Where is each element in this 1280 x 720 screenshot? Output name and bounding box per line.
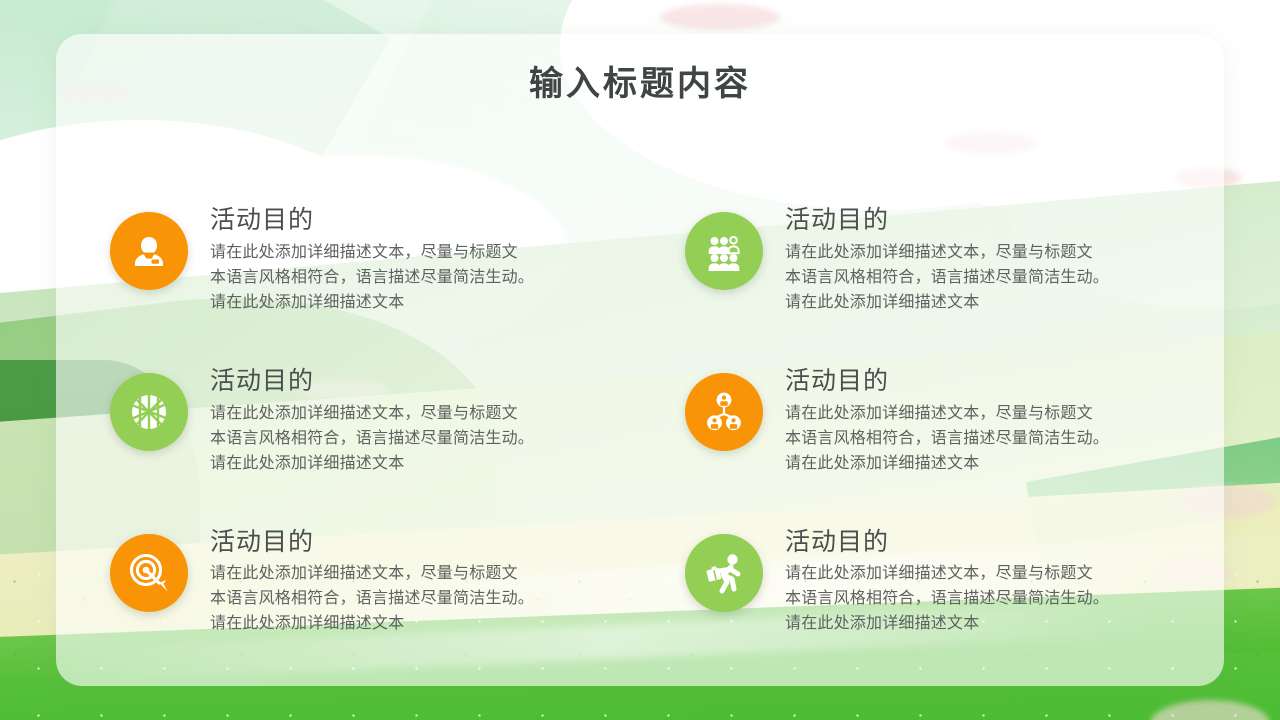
- feature-item-title: 活动目的: [210, 206, 534, 235]
- feature-item-title: 活动目的: [210, 367, 534, 396]
- feature-item-desc: 请在此处添加详细描述文本，尽量与标题文 本语言风格相符合，语言描述尽量简洁生动。…: [785, 561, 1109, 636]
- feature-item-6[interactable]: 活动目的 请在此处添加详细描述文本，尽量与标题文 本语言风格相符合，语言描述尽量…: [685, 528, 1150, 637]
- page-title: 输入标题内容: [0, 56, 1280, 105]
- globe-network-icon[interactable]: [110, 373, 188, 451]
- target-arrow-icon[interactable]: [110, 534, 188, 612]
- feature-item-body: 活动目的 请在此处添加详细描述文本，尽量与标题文 本语言风格相符合，语言描述尽量…: [210, 367, 534, 476]
- feature-item-5[interactable]: 活动目的 请在此处添加详细描述文本，尽量与标题文 本语言风格相符合，语言描述尽量…: [110, 528, 575, 637]
- feature-grid: 活动目的 请在此处添加详细描述文本，尽量与标题文 本语言风格相符合，语言描述尽量…: [110, 206, 1180, 636]
- feature-item-title: 活动目的: [785, 367, 1109, 396]
- feature-item-1[interactable]: 活动目的 请在此处添加详细描述文本，尽量与标题文 本语言风格相符合，语言描述尽量…: [110, 206, 575, 315]
- blossom-petal: [1150, 700, 1270, 720]
- feature-item-2[interactable]: 活动目的 请在此处添加详细描述文本，尽量与标题文 本语言风格相符合，语言描述尽量…: [685, 206, 1150, 315]
- feature-item-4[interactable]: 活动目的 请在此处添加详细描述文本，尽量与标题文 本语言风格相符合，语言描述尽量…: [685, 367, 1150, 476]
- feature-item-body: 活动目的 请在此处添加详细描述文本，尽量与标题文 本语言风格相符合，语言描述尽量…: [785, 528, 1109, 637]
- feature-item-3[interactable]: 活动目的 请在此处添加详细描述文本，尽量与标题文 本语言风格相符合，语言描述尽量…: [110, 367, 575, 476]
- feature-item-desc: 请在此处添加详细描述文本，尽量与标题文 本语言风格相符合，语言描述尽量简洁生动。…: [210, 240, 534, 315]
- feature-item-title: 活动目的: [785, 206, 1109, 235]
- feature-item-body: 活动目的 请在此处添加详细描述文本，尽量与标题文 本语言风格相符合，语言描述尽量…: [210, 206, 534, 315]
- feature-item-body: 活动目的 请在此处添加详细描述文本，尽量与标题文 本语言风格相符合，语言描述尽量…: [785, 367, 1109, 476]
- blossom-petal: [660, 4, 780, 30]
- feature-item-body: 活动目的 请在此处添加详细描述文本，尽量与标题文 本语言风格相符合，语言描述尽量…: [785, 206, 1109, 315]
- feature-item-desc: 请在此处添加详细描述文本，尽量与标题文 本语言风格相符合，语言描述尽量简洁生动。…: [210, 401, 534, 476]
- running-businessman-icon[interactable]: [685, 534, 763, 612]
- people-group-icon[interactable]: [685, 212, 763, 290]
- slide-root: 输入标题内容 活动目的 请在此处添加详细描述文本，尽量与标题文 本语言风格相符合…: [0, 0, 1280, 720]
- feature-item-desc: 请在此处添加详细描述文本，尽量与标题文 本语言风格相符合，语言描述尽量简洁生动。…: [210, 561, 534, 636]
- feature-item-body: 活动目的 请在此处添加详细描述文本，尽量与标题文 本语言风格相符合，语言描述尽量…: [210, 528, 534, 637]
- person-badge-icon[interactable]: [110, 212, 188, 290]
- feature-item-title: 活动目的: [210, 528, 534, 557]
- feature-item-desc: 请在此处添加详细描述文本，尽量与标题文 本语言风格相符合，语言描述尽量简洁生动。…: [785, 401, 1109, 476]
- feature-item-title: 活动目的: [785, 528, 1109, 557]
- feature-item-desc: 请在此处添加详细描述文本，尽量与标题文 本语言风格相符合，语言描述尽量简洁生动。…: [785, 240, 1109, 315]
- team-hierarchy-icon[interactable]: [685, 373, 763, 451]
